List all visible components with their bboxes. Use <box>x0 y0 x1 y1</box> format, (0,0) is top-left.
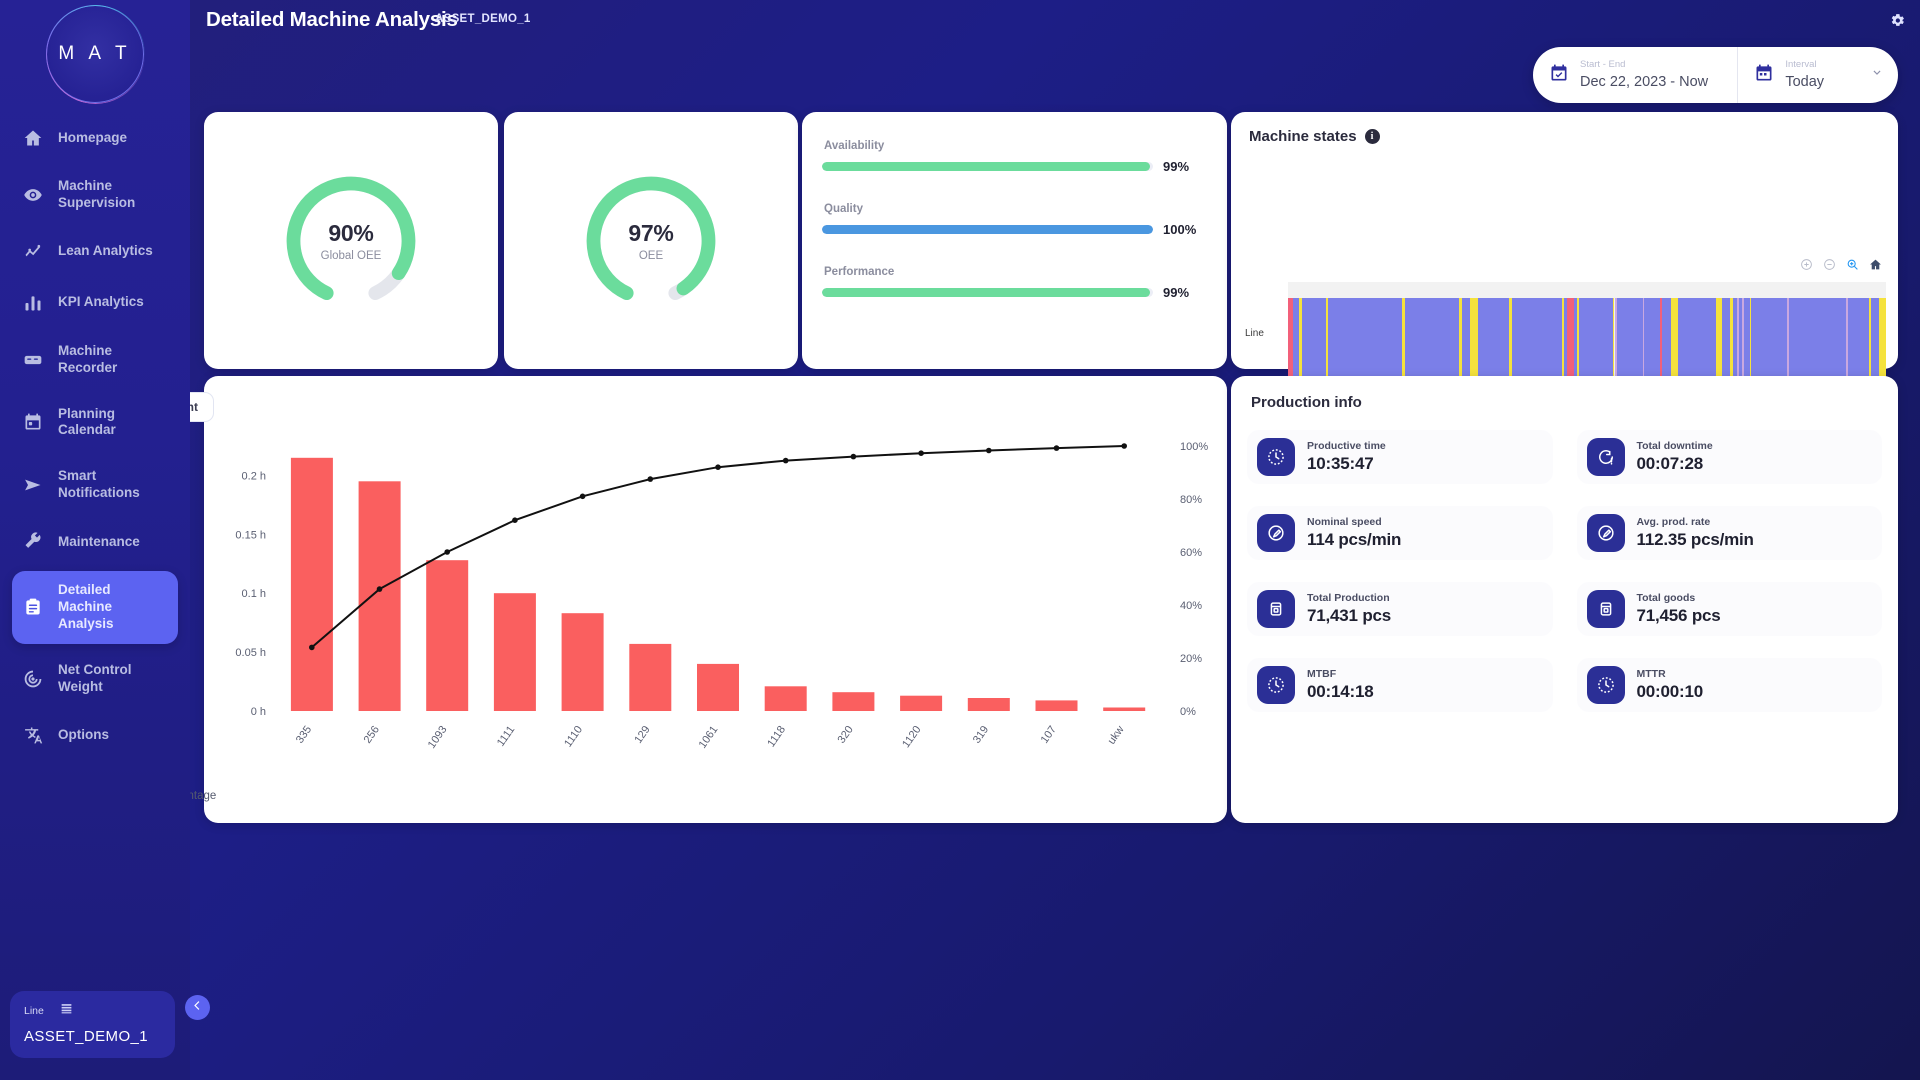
global-oee-value: 90% <box>328 220 373 247</box>
box-icon <box>1587 590 1625 628</box>
settings-button[interactable] <box>1889 12 1906 34</box>
metric-label: Performance <box>824 266 1199 278</box>
pareto-y2tick: 40% <box>1180 600 1202 612</box>
state-segment[interactable] <box>1617 298 1642 388</box>
date-range-value: Dec 22, 2023 - Now <box>1580 74 1708 90</box>
sidebar-item-label: Net Control Weight <box>58 662 168 696</box>
sidebar-item-machine-recorder[interactable]: Machine Recorder <box>12 332 178 388</box>
metric-track <box>822 225 1153 234</box>
zoom-in-icon[interactable] <box>1800 258 1813 271</box>
pareto-xtick: 335 <box>294 724 314 746</box>
kpi-mtbf: MTBF00:14:18 <box>1247 658 1553 712</box>
box-icon <box>1257 590 1295 628</box>
kpi-label: MTTR <box>1637 668 1703 680</box>
metric-label: Availability <box>824 140 1199 152</box>
sidebar-item-label: Machine Recorder <box>58 343 168 377</box>
state-segment[interactable] <box>1879 298 1886 388</box>
pareto-ytick: 0.2 h <box>242 470 266 482</box>
pareto-xtick: 1111 <box>495 724 517 749</box>
pareto-bar[interactable] <box>291 458 333 711</box>
pareto-bar[interactable] <box>426 560 468 711</box>
kpi-mttr: MTTR00:00:10 <box>1577 658 1883 712</box>
sidebar-item-kpi-analytics[interactable]: KPI Analytics <box>12 281 178 325</box>
availability-quality-performance-card: Availability99%Quality100%Performance99% <box>802 112 1227 369</box>
machine-states-card: Machine states i Line 01:0002:0003:0004:… <box>1231 112 1898 369</box>
kpi-nominal-speed: Nominal speed114 pcs/min <box>1247 506 1553 560</box>
production-info-grid: Productive time10:35:47Total downtime00:… <box>1247 430 1882 712</box>
home-icon <box>22 127 44 149</box>
pareto-y2tick: 20% <box>1180 653 1202 665</box>
asset-type-label: Line <box>24 1005 44 1017</box>
state-segment[interactable] <box>1478 298 1509 388</box>
cumulative-point[interactable] <box>648 476 654 482</box>
pareto-bar[interactable] <box>359 481 401 711</box>
kpi-label: Total Production <box>1307 592 1391 604</box>
sidebar-item-label: Detailed Machine Analysis <box>58 582 168 633</box>
pareto-xtick: 1120 <box>900 724 923 750</box>
production-info-card: Production info Productive time10:35:47T… <box>1231 376 1898 823</box>
kpi-value: 00:00:10 <box>1637 682 1703 702</box>
metric-percent: 99% <box>1163 285 1199 300</box>
global-oee-label: Global OEE <box>321 250 382 262</box>
cumulative-point[interactable] <box>715 464 721 470</box>
state-segment[interactable] <box>1871 298 1879 388</box>
state-segment[interactable] <box>1567 298 1574 388</box>
chevron-down-icon[interactable] <box>1870 66 1884 85</box>
oee-card: 97% OEE <box>504 112 798 369</box>
pareto-y2tick: 100% <box>1180 441 1208 453</box>
pareto-bar[interactable] <box>900 696 942 711</box>
kpi-value: 10:35:47 <box>1307 454 1386 474</box>
pareto-bar[interactable] <box>968 698 1010 711</box>
sidebar-item-planning-calendar[interactable]: Planning Calendar <box>12 395 178 451</box>
date-range-label: Start - End <box>1580 60 1708 70</box>
machine-states-row-label: Line <box>1245 328 1264 339</box>
pareto-xtick: 1118 <box>765 724 788 750</box>
clock-icon <box>1587 666 1625 704</box>
sidebar-item-label: Maintenance <box>58 534 140 551</box>
state-segment[interactable] <box>1328 298 1402 388</box>
clipboard-icon <box>22 596 44 618</box>
gauge-icon <box>1587 514 1625 552</box>
pareto-xtick: 256 <box>362 724 382 746</box>
state-segment[interactable] <box>1302 298 1327 388</box>
info-icon[interactable]: i <box>1365 129 1380 144</box>
pareto-ytick: 0.05 h <box>235 647 266 659</box>
gear-icon <box>1889 16 1906 33</box>
logo-text: M A T <box>58 43 131 65</box>
state-segment[interactable] <box>1470 298 1478 388</box>
sidebar: M A T HomepageMachine SupervisionLean An… <box>0 0 190 1080</box>
kpi-value: 71,431 pcs <box>1307 606 1391 626</box>
eye-icon <box>22 184 44 206</box>
state-segment[interactable] <box>1512 298 1562 388</box>
sidebar-item-homepage[interactable]: Homepage <box>12 116 178 160</box>
pareto-bar[interactable] <box>765 686 807 711</box>
zoom-out-icon[interactable] <box>1823 258 1836 271</box>
sidebar-item-net-control-weight[interactable]: Net Control Weight <box>12 651 178 707</box>
send-icon <box>22 474 44 496</box>
cumulative-point[interactable] <box>444 549 450 555</box>
kpi-label: Total goods <box>1637 592 1721 604</box>
metric-quality: Quality100% <box>822 203 1199 237</box>
pareto-ytick: 0 h <box>251 706 266 718</box>
line-chart-icon <box>22 241 44 263</box>
kpi-label: Avg. prod. rate <box>1637 516 1754 528</box>
oee-label: OEE <box>639 250 663 262</box>
pareto-xtick: 1110 <box>562 724 585 750</box>
pareto-xtick: 320 <box>835 724 855 746</box>
sidebar-item-label: Homepage <box>58 130 127 147</box>
sidebar-item-maintenance[interactable]: Maintenance <box>12 520 178 564</box>
pareto-chart-card: 0 h0.05 h0.1 h0.15 h0.2 h0%20%40%60%80%1… <box>204 376 1227 823</box>
state-segment[interactable] <box>1789 298 1846 388</box>
pareto-xtick: 1093 <box>426 724 450 751</box>
cumulative-point[interactable] <box>512 517 518 523</box>
recorder-icon <box>22 349 44 371</box>
sidebar-item-options[interactable]: Options <box>12 713 178 757</box>
state-segment[interactable] <box>1671 298 1678 388</box>
kpi-value: 114 pcs/min <box>1307 530 1401 550</box>
metric-percent: 100% <box>1163 222 1199 237</box>
pareto-ytick: 0.1 h <box>242 588 266 600</box>
kpi-value: 112.35 pcs/min <box>1637 530 1754 550</box>
kpi-productive-time: Productive time10:35:47 <box>1247 430 1553 484</box>
sidebar-item-label: Smart Notifications <box>58 468 168 502</box>
pareto-xtick: 319 <box>971 724 991 746</box>
kpi-label: Productive time <box>1307 440 1386 452</box>
chevron-left-icon <box>191 999 204 1017</box>
oee-value: 97% <box>628 220 673 247</box>
calendar-check-icon <box>1549 63 1569 88</box>
sidebar-item-label: Machine Supervision <box>58 178 168 212</box>
cumulative-point[interactable] <box>851 454 857 460</box>
sidebar-item-detailed-machine-analysis[interactable]: Detailed Machine Analysis <box>12 571 178 644</box>
cumulative-point[interactable] <box>580 494 586 500</box>
clock-icon <box>1257 666 1295 704</box>
home-reset-icon[interactable] <box>1869 258 1882 271</box>
state-segment[interactable] <box>1293 298 1300 388</box>
pareto-bar[interactable] <box>1036 700 1078 711</box>
sidebar-item-label: Planning Calendar <box>58 406 168 440</box>
sidebar-nav: HomepageMachine SupervisionLean Analytic… <box>0 116 190 757</box>
sidebar-item-smart-notifications[interactable]: Smart Notifications <box>12 457 178 513</box>
calendar-icon <box>1754 63 1774 88</box>
date-range-segment[interactable]: Start - End Dec 22, 2023 - Now <box>1533 47 1737 103</box>
cumulative-point[interactable] <box>986 448 992 454</box>
pareto-bar[interactable] <box>494 593 536 711</box>
sidebar-item-label: Lean Analytics <box>58 243 153 260</box>
pareto-xtick: 129 <box>632 724 652 746</box>
pareto-y2tick: 80% <box>1180 494 1202 506</box>
cumulative-point[interactable] <box>377 586 383 592</box>
pareto-bar[interactable] <box>629 644 671 711</box>
machine-states-title: Machine states <box>1249 128 1357 145</box>
state-segment[interactable] <box>1662 298 1672 388</box>
date-range-picker[interactable]: Start - End Dec 22, 2023 - Now Interval … <box>1533 47 1898 103</box>
cumulative-point[interactable] <box>1121 443 1127 449</box>
production-info-title: Production info <box>1251 394 1362 411</box>
sidebar-item-machine-supervision[interactable]: Machine Supervision <box>12 167 178 223</box>
state-segment[interactable] <box>1722 298 1730 388</box>
pareto-bar[interactable] <box>562 613 604 711</box>
kpi-value: 00:07:28 <box>1637 454 1713 474</box>
pareto-ytick: 0.15 h <box>235 529 266 541</box>
kpi-label: Nominal speed <box>1307 516 1401 528</box>
kpi-value: 00:14:18 <box>1307 682 1373 702</box>
translate-icon <box>22 724 44 746</box>
state-segment[interactable] <box>1462 298 1470 388</box>
pareto-y2tick: 60% <box>1180 547 1202 559</box>
metric-availability: Availability99% <box>822 140 1199 174</box>
cumulative-point[interactable] <box>309 645 315 651</box>
machine-states-timeline[interactable] <box>1288 298 1886 388</box>
kpi-avg-prod-rate: Avg. prod. rate112.35 pcs/min <box>1577 506 1883 560</box>
kpi-total-goods: Total goods71,456 pcs <box>1577 582 1883 636</box>
state-segment[interactable] <box>1579 298 1612 388</box>
state-segment[interactable] <box>1678 298 1716 388</box>
page-title: Detailed Machine Analysis <box>206 8 458 32</box>
kpi-label: MTBF <box>1307 668 1373 680</box>
interval-label: Interval <box>1785 60 1824 70</box>
global-oee-card: 90% Global OEE <box>204 112 498 369</box>
cumulative-point[interactable] <box>783 458 789 464</box>
header-asset-label: ASSET_DEMO_1 <box>435 13 531 25</box>
interval-value: Today <box>1785 74 1824 90</box>
pareto-xtick: 1061 <box>697 724 721 751</box>
sidebar-item-label: KPI Analytics <box>58 294 144 311</box>
sidebar-item-label: Options <box>58 727 109 744</box>
calendar-icon <box>22 411 44 433</box>
state-segment[interactable] <box>1751 298 1787 388</box>
target-icon <box>22 668 44 690</box>
clock-icon <box>1257 438 1295 476</box>
metric-label: Quality <box>824 203 1199 215</box>
state-segment[interactable] <box>1848 298 1868 388</box>
state-segment[interactable] <box>1405 298 1459 388</box>
pareto-xtick: 107 <box>1039 724 1059 746</box>
machine-states-toolbar <box>1800 258 1882 271</box>
kpi-label: Total downtime <box>1637 440 1713 452</box>
cumulative-point[interactable] <box>918 450 924 456</box>
pareto-xtick: ukw <box>1106 724 1127 747</box>
bar-chart-icon <box>22 292 44 314</box>
pareto-bar[interactable] <box>697 664 739 711</box>
metric-performance: Performance99% <box>822 266 1199 300</box>
wrench-icon <box>22 531 44 553</box>
list-icon[interactable] <box>60 1002 73 1020</box>
kpi-total-downtime: Total downtime00:07:28 <box>1577 430 1883 484</box>
cumulative-point[interactable] <box>1054 445 1060 451</box>
sidebar-item-lean-analytics[interactable]: Lean Analytics <box>12 230 178 274</box>
asset-selector[interactable]: Line ASSET_DEMO_1 <box>10 991 175 1058</box>
downtime-icon <box>1587 438 1625 476</box>
pareto-bar[interactable] <box>832 692 874 711</box>
metric-track <box>822 288 1153 297</box>
header: Detailed Machine Analysis ASSET_DEMO_1 <box>190 0 1920 40</box>
zoom-select-icon[interactable] <box>1846 258 1859 271</box>
app-logo[interactable]: M A T <box>0 0 190 108</box>
sidebar-collapse-button[interactable] <box>185 995 210 1020</box>
pareto-plot[interactable]: 0 h0.05 h0.1 h0.15 h0.2 h0%20%40%60%80%1… <box>218 436 1218 766</box>
oee-gauge: 97% OEE <box>576 166 726 316</box>
interval-segment[interactable]: Interval Today <box>1737 47 1898 103</box>
metric-percent: 99% <box>1163 159 1199 174</box>
kpi-value: 71,456 pcs <box>1637 606 1721 626</box>
metric-track <box>822 162 1153 171</box>
state-segment[interactable] <box>1644 298 1660 388</box>
asset-value: ASSET_DEMO_1 <box>24 1028 161 1045</box>
kpi-total-production: Total Production71,431 pcs <box>1247 582 1553 636</box>
gauge-icon <box>1257 514 1295 552</box>
global-oee-gauge: 90% Global OEE <box>276 166 426 316</box>
pareto-y2tick: 0% <box>1180 706 1196 718</box>
pareto-bar[interactable] <box>1103 708 1145 712</box>
